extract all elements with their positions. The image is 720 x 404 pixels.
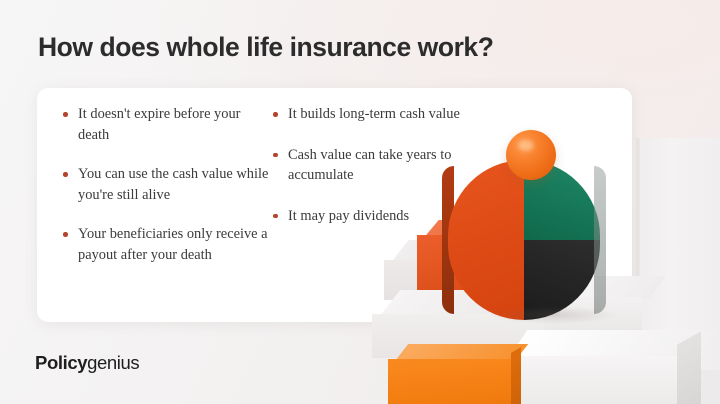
bullet-dot-icon — [273, 112, 278, 117]
list-item: Your beneficiaries only receive a payout… — [62, 224, 272, 265]
orange-sphere-icon — [506, 130, 556, 180]
petal-right-depth-edge — [594, 166, 606, 314]
front-platform-face — [500, 356, 678, 404]
logo-mark-petal — [440, 160, 608, 320]
bullet-dot-icon — [63, 232, 68, 237]
list-item-label: It may pay dividends — [288, 208, 409, 224]
front-orange-block-top — [396, 344, 529, 360]
list-item: You can use the cash value while you're … — [62, 164, 272, 205]
list-item-label: Your beneficiaries only receive a payout… — [78, 226, 268, 263]
list-item-label: You can use the cash value while you're … — [78, 166, 268, 203]
page-title: How does whole life insurance work? — [38, 32, 493, 63]
list-item: It doesn't expire before your death — [62, 104, 272, 145]
brand-logo-light: genius — [87, 352, 139, 373]
list-item-label: It builds long-term cash value — [288, 106, 460, 122]
hero-illustration — [392, 138, 720, 404]
brand-logo-bold: Policy — [35, 352, 87, 373]
bullet-dot-icon — [273, 153, 278, 158]
bullet-dot-icon — [63, 172, 68, 177]
front-orange-block-side — [511, 347, 521, 404]
brand-logo: Policygenius — [35, 352, 139, 374]
bullet-dot-icon — [273, 214, 278, 219]
front-orange-block-face — [388, 359, 512, 404]
slide-canvas: How does whole life insurance work? It d… — [0, 0, 720, 404]
list-item: It builds long-term cash value — [272, 104, 472, 125]
petal-left-orange — [448, 160, 524, 320]
list-item-label: It doesn't expire before your death — [78, 106, 240, 143]
front-platform-side — [677, 331, 701, 404]
sphere-highlight — [518, 140, 534, 151]
left-column: It doesn't expire before your death You … — [62, 104, 272, 314]
contact-shadow-upper — [488, 306, 618, 324]
bullet-dot-icon — [63, 112, 68, 117]
